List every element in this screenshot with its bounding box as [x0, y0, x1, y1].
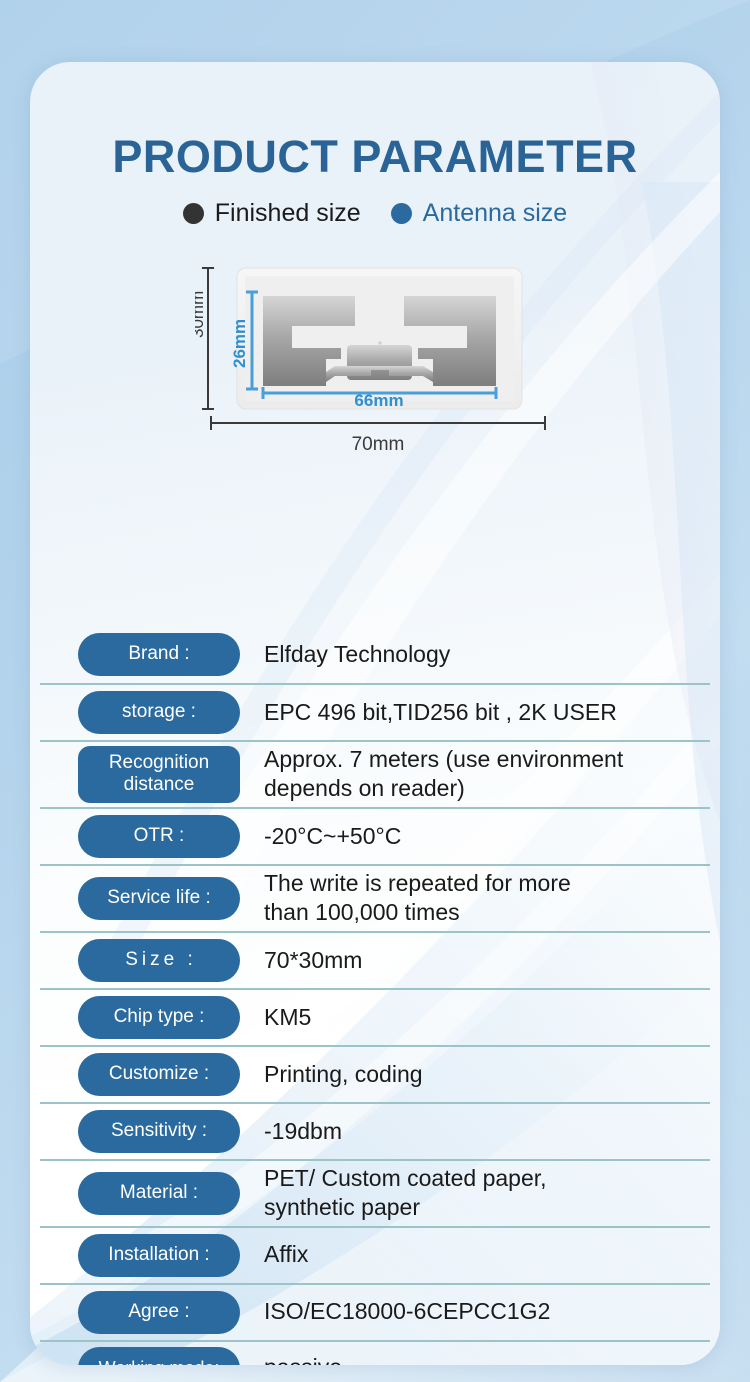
table-row: Recognition distance Approx. 7 meters (u…: [40, 740, 710, 807]
antenna-size-dot-icon: [391, 203, 412, 224]
spec-value-size: 70*30mm: [264, 946, 710, 975]
table-row: Service life : The write is repeated for…: [40, 864, 710, 931]
spec-value-agree: ISO/EC18000-6CEPCC1G2: [264, 1297, 710, 1326]
legend: Finished size Antenna size: [30, 201, 720, 226]
spec-label-installation: Installation :: [78, 1234, 240, 1277]
product-parameter-card: PRODUCT PARAMETER Finished size Antenna …: [30, 62, 720, 1365]
spec-value-otr: -20°C~+50°C: [264, 822, 710, 851]
table-row: Chip type : KM5: [40, 988, 710, 1045]
spec-label-storage: storage :: [78, 691, 240, 734]
table-row: Material : PET/ Custom coated paper, syn…: [40, 1159, 710, 1226]
spec-value-material: PET/ Custom coated paper, synthetic pape…: [264, 1164, 710, 1223]
spec-label-recognition-distance: Recognition distance: [78, 746, 240, 803]
spec-label-chip-type: Chip type :: [78, 996, 240, 1039]
product-diagram: 30mm 26mm 66mm 70mm: [30, 260, 720, 490]
dim-inner-width-label: 66mm: [354, 391, 403, 410]
table-row: Customize : Printing, coding: [40, 1045, 710, 1102]
spec-value-brand: Elfday Technology: [264, 640, 710, 669]
legend-label-antenna-size: Antenna size: [423, 201, 568, 226]
legend-item-antenna-size: Antenna size: [391, 201, 568, 226]
spec-label-service-life: Service life :: [78, 877, 240, 920]
spec-label-customize: Customize :: [78, 1053, 240, 1096]
spec-value-recognition-distance: Approx. 7 meters (use environment depend…: [264, 745, 710, 804]
spec-label-sensitivity: Sensitivity :: [78, 1110, 240, 1153]
page-title: PRODUCT PARAMETER: [30, 134, 720, 179]
dim-outer-width-label: 70mm: [352, 434, 405, 455]
table-row: OTR : -20°C~+50°C: [40, 807, 710, 864]
dim-outer-height-label: 30mm: [195, 291, 207, 338]
spec-label-size: Size :: [78, 939, 240, 982]
table-row: Working mode: passive: [40, 1340, 710, 1365]
spec-table: Brand : Elfday Technology storage : EPC …: [40, 626, 710, 1365]
spec-value-service-life: The write is repeated for more than 100,…: [264, 869, 710, 928]
table-row: Installation : Affix: [40, 1226, 710, 1283]
spec-label-material: Material :: [78, 1172, 240, 1215]
spec-value-installation: Affix: [264, 1240, 710, 1269]
table-row: Brand : Elfday Technology: [40, 626, 710, 683]
legend-label-finished-size: Finished size: [215, 201, 361, 226]
spec-value-sensitivity: -19dbm: [264, 1117, 710, 1146]
spec-value-chip-type: KM5: [264, 1003, 710, 1032]
table-row: Agree : ISO/EC18000-6CEPCC1G2: [40, 1283, 710, 1340]
spec-value-storage: EPC 496 bit,TID256 bit , 2K USER: [264, 698, 710, 727]
finished-size-dot-icon: [183, 203, 204, 224]
spec-label-brand: Brand :: [78, 633, 240, 676]
table-row: storage : EPC 496 bit,TID256 bit , 2K US…: [40, 683, 710, 740]
spec-label-otr: OTR :: [78, 815, 240, 858]
legend-item-finished-size: Finished size: [183, 201, 361, 226]
table-row: Sensitivity : -19dbm: [40, 1102, 710, 1159]
spec-value-customize: Printing, coding: [264, 1060, 710, 1089]
dim-inner-height-label: 26mm: [230, 319, 249, 368]
spec-value-working-mode: passive: [264, 1353, 710, 1365]
table-row: Size : 70*30mm: [40, 931, 710, 988]
spec-label-agree: Agree :: [78, 1291, 240, 1334]
spec-label-working-mode: Working mode:: [78, 1347, 240, 1365]
